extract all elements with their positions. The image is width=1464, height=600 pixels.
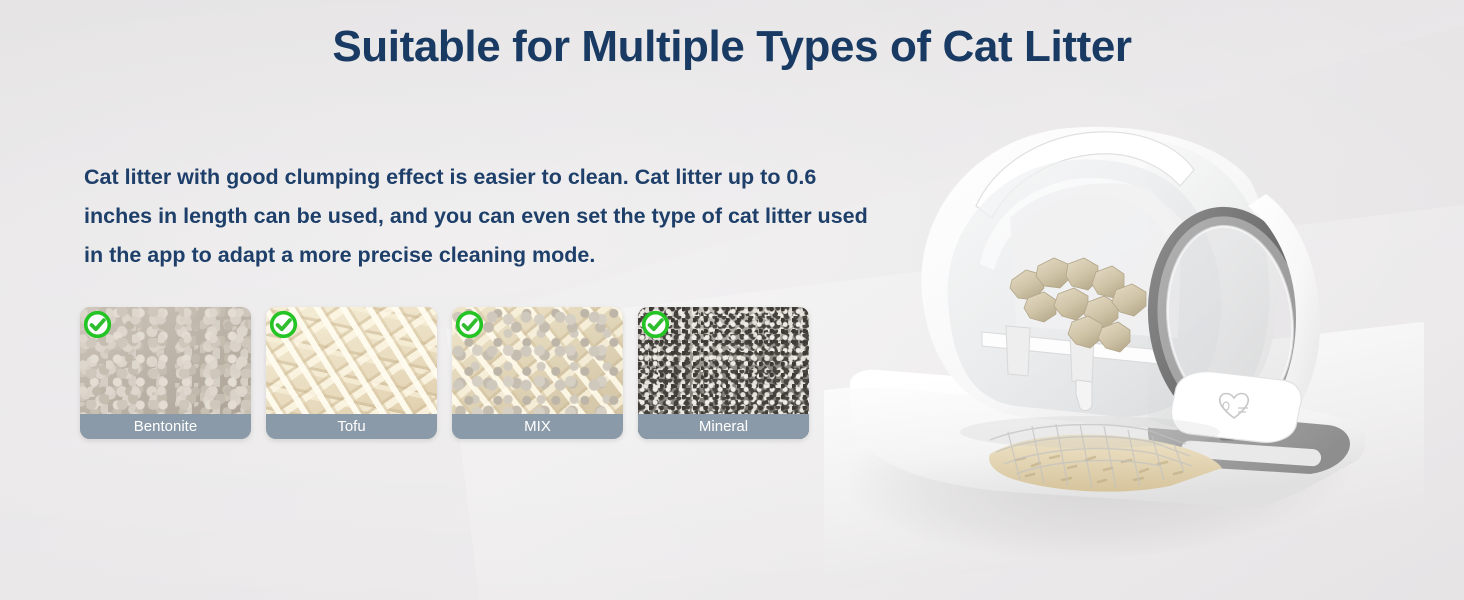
green-check-icon: [641, 310, 670, 339]
litter-type-card-list: Bentonite Tofu MIX: [80, 307, 809, 439]
product-feature-banner: Suitable for Multiple Types of Cat Litte…: [0, 0, 1464, 600]
green-check-icon: [83, 310, 112, 339]
litter-card-tofu[interactable]: Tofu: [266, 307, 437, 439]
green-check-icon: [269, 310, 298, 339]
product-image: [830, 88, 1400, 558]
litter-box-illustration: [830, 88, 1400, 558]
page-title: Suitable for Multiple Types of Cat Litte…: [0, 22, 1464, 72]
litter-card-bentonite[interactable]: Bentonite: [80, 307, 251, 439]
litter-card-label: Bentonite: [80, 414, 251, 439]
green-check-icon: [455, 310, 484, 339]
litter-card-mix[interactable]: MIX: [452, 307, 623, 439]
litter-card-mineral[interactable]: Mineral: [638, 307, 809, 439]
litter-card-label: MIX: [452, 414, 623, 439]
description-paragraph: Cat litter with good clumping effect is …: [84, 158, 884, 275]
litter-card-label: Tofu: [266, 414, 437, 439]
litter-card-label: Mineral: [638, 414, 809, 439]
rake-fin-1: [1006, 326, 1030, 376]
